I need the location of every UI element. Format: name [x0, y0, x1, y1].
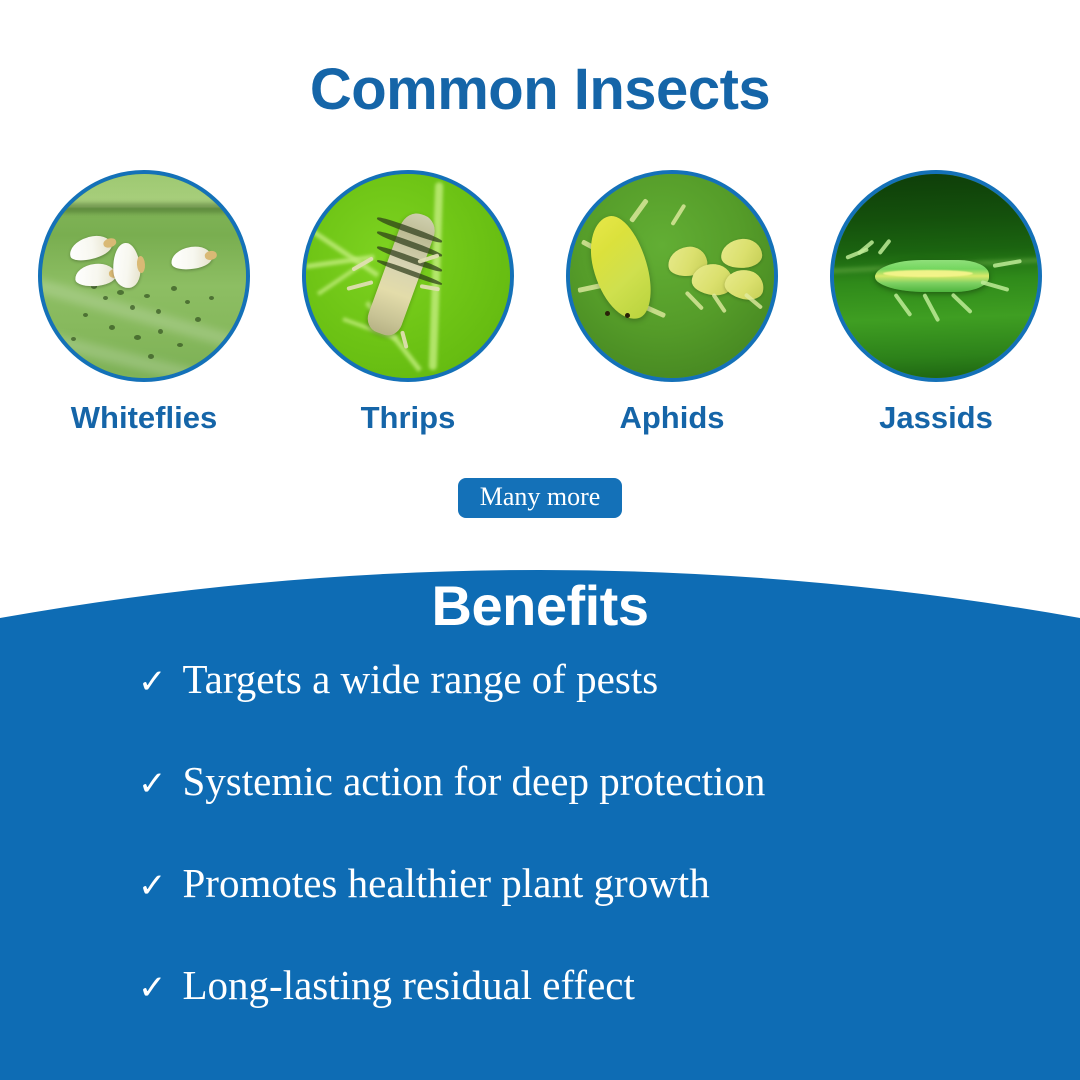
insect-label-thrips: Thrips	[361, 400, 456, 436]
insect-label-whiteflies: Whiteflies	[71, 400, 217, 436]
insect-card-jassids[interactable]: Jassids	[828, 170, 1044, 436]
insect-label-aphids: Aphids	[619, 400, 724, 436]
check-icon: ✓	[138, 971, 167, 1005]
aphids-photo	[566, 170, 778, 382]
check-icon: ✓	[138, 665, 167, 699]
benefit-text: Long-lasting residual effect	[183, 961, 635, 1009]
benefits-title: Benefits	[0, 573, 1080, 638]
insect-gallery: Whiteflies	[0, 170, 1080, 436]
many-more-wrapper: Many more	[0, 478, 1080, 518]
benefit-item: ✓ Long-lasting residual effect	[0, 961, 1080, 1063]
insect-card-whiteflies[interactable]: Whiteflies	[36, 170, 252, 436]
benefit-item: ✓ Promotes healthier plant growth	[0, 859, 1080, 961]
jassids-photo	[830, 170, 1042, 382]
thrips-photo	[302, 170, 514, 382]
many-more-badge[interactable]: Many more	[458, 478, 623, 518]
check-icon: ✓	[138, 767, 167, 801]
whiteflies-photo	[38, 170, 250, 382]
infographic-page: Common Insects	[0, 0, 1080, 1080]
benefit-text: Targets a wide range of pests	[183, 655, 659, 703]
benefits-section: Benefits ✓ Targets a wide range of pests…	[0, 530, 1080, 1080]
insect-card-thrips[interactable]: Thrips	[300, 170, 516, 436]
insect-label-jassids: Jassids	[879, 400, 993, 436]
benefit-text: Promotes healthier plant growth	[183, 859, 710, 907]
benefits-list: ✓ Targets a wide range of pests ✓ System…	[0, 655, 1080, 1063]
check-icon: ✓	[138, 869, 167, 903]
insect-card-aphids[interactable]: Aphids	[564, 170, 780, 436]
benefit-text: Systemic action for deep protection	[183, 757, 766, 805]
benefit-item: ✓ Targets a wide range of pests	[0, 655, 1080, 757]
benefit-item: ✓ Systemic action for deep protection	[0, 757, 1080, 859]
page-title: Common Insects	[0, 56, 1080, 123]
